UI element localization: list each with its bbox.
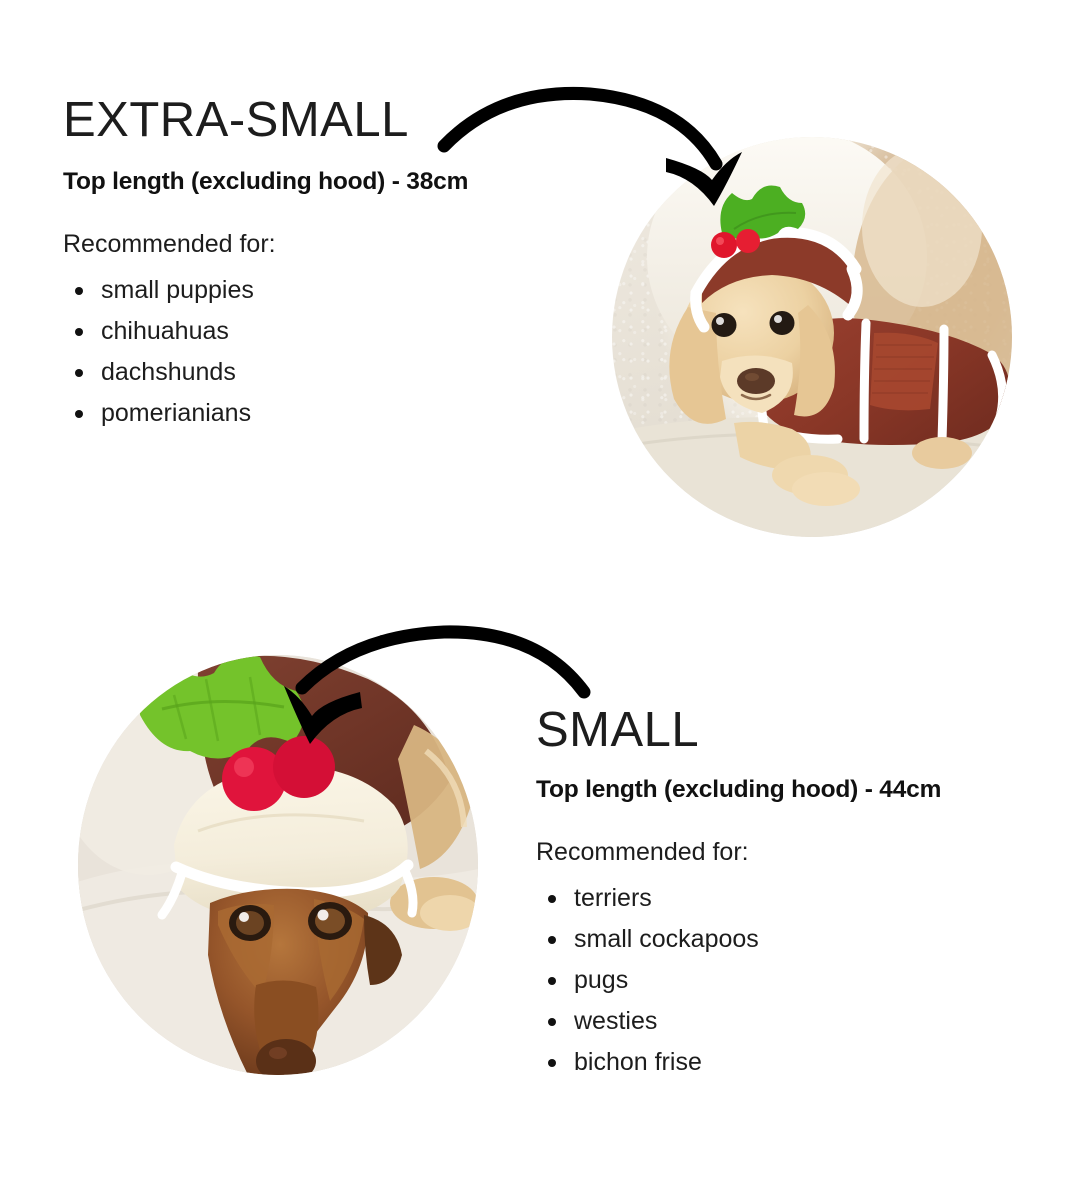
list-item: small puppies (63, 270, 254, 311)
bullet-icon (548, 1018, 556, 1026)
breed-label: pugs (574, 966, 628, 994)
recommended-label-extra-small: Recommended for: (63, 232, 276, 257)
breed-label: small puppies (101, 276, 254, 304)
top-length-extra-small: Top length (excluding hood) - 38cm (63, 170, 468, 195)
breed-label: pomerianians (101, 399, 251, 427)
bullet-icon (75, 328, 83, 336)
page-title-small: SMALL (536, 706, 699, 755)
bullet-icon (548, 895, 556, 903)
list-item: westies (536, 1001, 759, 1042)
breed-label: chihuahuas (101, 317, 229, 345)
recommended-label-small: Recommended for: (536, 840, 749, 865)
breed-label: westies (574, 1007, 657, 1035)
breed-label: dachshunds (101, 358, 236, 386)
list-item: pugs (536, 960, 759, 1001)
breed-label: bichon frise (574, 1048, 702, 1076)
bullet-icon (75, 369, 83, 377)
size-guide-page: EXTRA-SMALL Top length (excluding hood) … (0, 0, 1080, 1202)
list-item: pomerianians (63, 393, 254, 434)
bullet-icon (75, 287, 83, 295)
page-title-extra-small: EXTRA-SMALL (63, 96, 409, 145)
breed-list-extra-small: small puppies chihuahuas dachshunds pome… (63, 270, 254, 434)
breed-label: terriers (574, 884, 652, 912)
bullet-icon (548, 936, 556, 944)
bullet-icon (548, 1059, 556, 1067)
list-item: small cockapoos (536, 919, 759, 960)
list-item: bichon frise (536, 1042, 759, 1083)
bullet-icon (75, 410, 83, 418)
breed-label: small cockapoos (574, 925, 759, 953)
list-item: terriers (536, 878, 759, 919)
list-item: dachshunds (63, 352, 254, 393)
bullet-icon (548, 977, 556, 985)
breed-list-small: terriers small cockapoos pugs westies bi… (536, 878, 759, 1083)
curved-arrow-pointing-right-down-icon (430, 82, 750, 207)
list-item: chihuahuas (63, 311, 254, 352)
top-length-small: Top length (excluding hood) - 44cm (536, 778, 941, 803)
